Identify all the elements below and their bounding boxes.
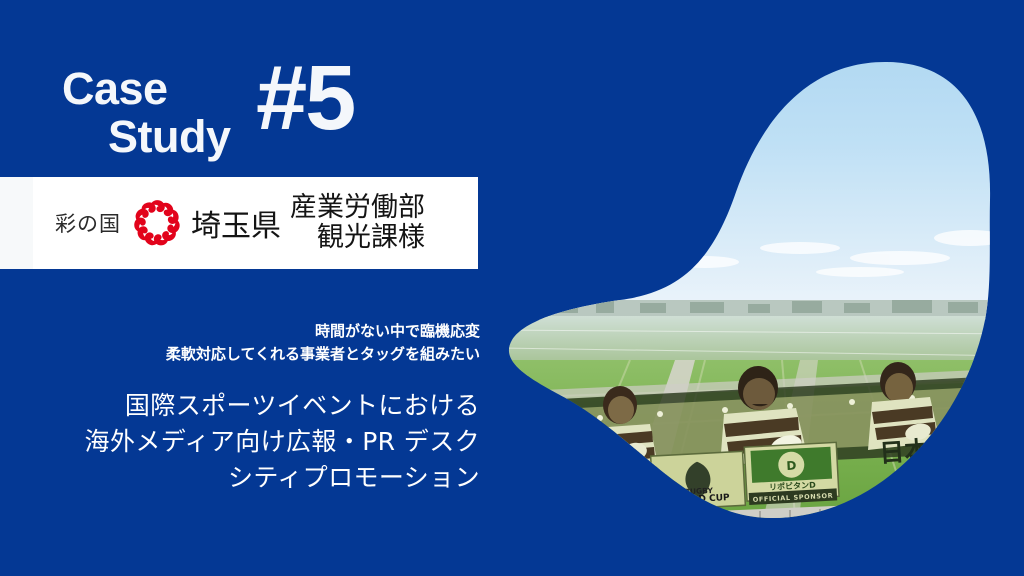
svg-text:RUGBY: RUGBY bbox=[684, 486, 714, 497]
svg-text:OFFICIAL SPONSOR: OFFICIAL SPONSOR bbox=[753, 492, 834, 504]
department-line-1: 産業労働部 bbox=[290, 193, 425, 223]
case-label: Case bbox=[62, 66, 168, 111]
slide-canvas: Case Study #5 彩の国 bbox=[0, 0, 1024, 576]
subcopy-line-1: 時間がない中で臨機応変 bbox=[40, 320, 480, 343]
svg-text:D: D bbox=[786, 459, 797, 474]
case-study-heading: Case Study #5 bbox=[52, 52, 402, 167]
svg-text:WORLD CUP: WORLD CUP bbox=[668, 493, 730, 506]
riceart-left-phrase: ばれ bbox=[559, 462, 613, 495]
logo-row: 彩の国 bbox=[33, 177, 478, 269]
prefecture-slogan: 彩の国 bbox=[55, 208, 121, 238]
svg-text:リポビタンD: リポビタンD bbox=[769, 480, 816, 492]
svg-text:行田市 2019: 行田市 2019 bbox=[897, 473, 942, 486]
main-title-line-3: シティプロモーション bbox=[20, 460, 480, 496]
subcopy-line-2: 柔軟対応してくれる事業者とタッグを組みたい bbox=[40, 343, 480, 366]
study-label: Study bbox=[108, 114, 231, 159]
main-title-line-1: 国際スポーツイベントにおける bbox=[20, 388, 480, 424]
saitama-prefecture-flower-mark-icon bbox=[131, 197, 183, 249]
logo-banner: 彩の国 bbox=[0, 177, 478, 269]
main-title-line-2: 海外メディア向け広報・PR デスク bbox=[20, 424, 480, 460]
riceart-right-phrase: 日本代表 bbox=[878, 432, 981, 468]
department-name: 産業労働部 観光課様 bbox=[290, 193, 425, 253]
logo-banner-left-pad bbox=[0, 177, 33, 269]
department-line-2: 観光課様 bbox=[317, 223, 425, 253]
prefecture-name: 埼玉県 bbox=[191, 201, 281, 245]
main-title-block: 国際スポーツイベントにおける 海外メディア向け広報・PR デスク シティプロモー… bbox=[20, 388, 480, 496]
subcopy-block: 時間がない中で臨機応変 柔軟対応してくれる事業者とタッグを組みたい bbox=[40, 320, 480, 365]
rice-paddy-art-photo: ばれ 日本代表 RUGBY WORLD CUP D リポビタンD bbox=[500, 0, 1024, 576]
case-number: #5 bbox=[256, 52, 354, 144]
